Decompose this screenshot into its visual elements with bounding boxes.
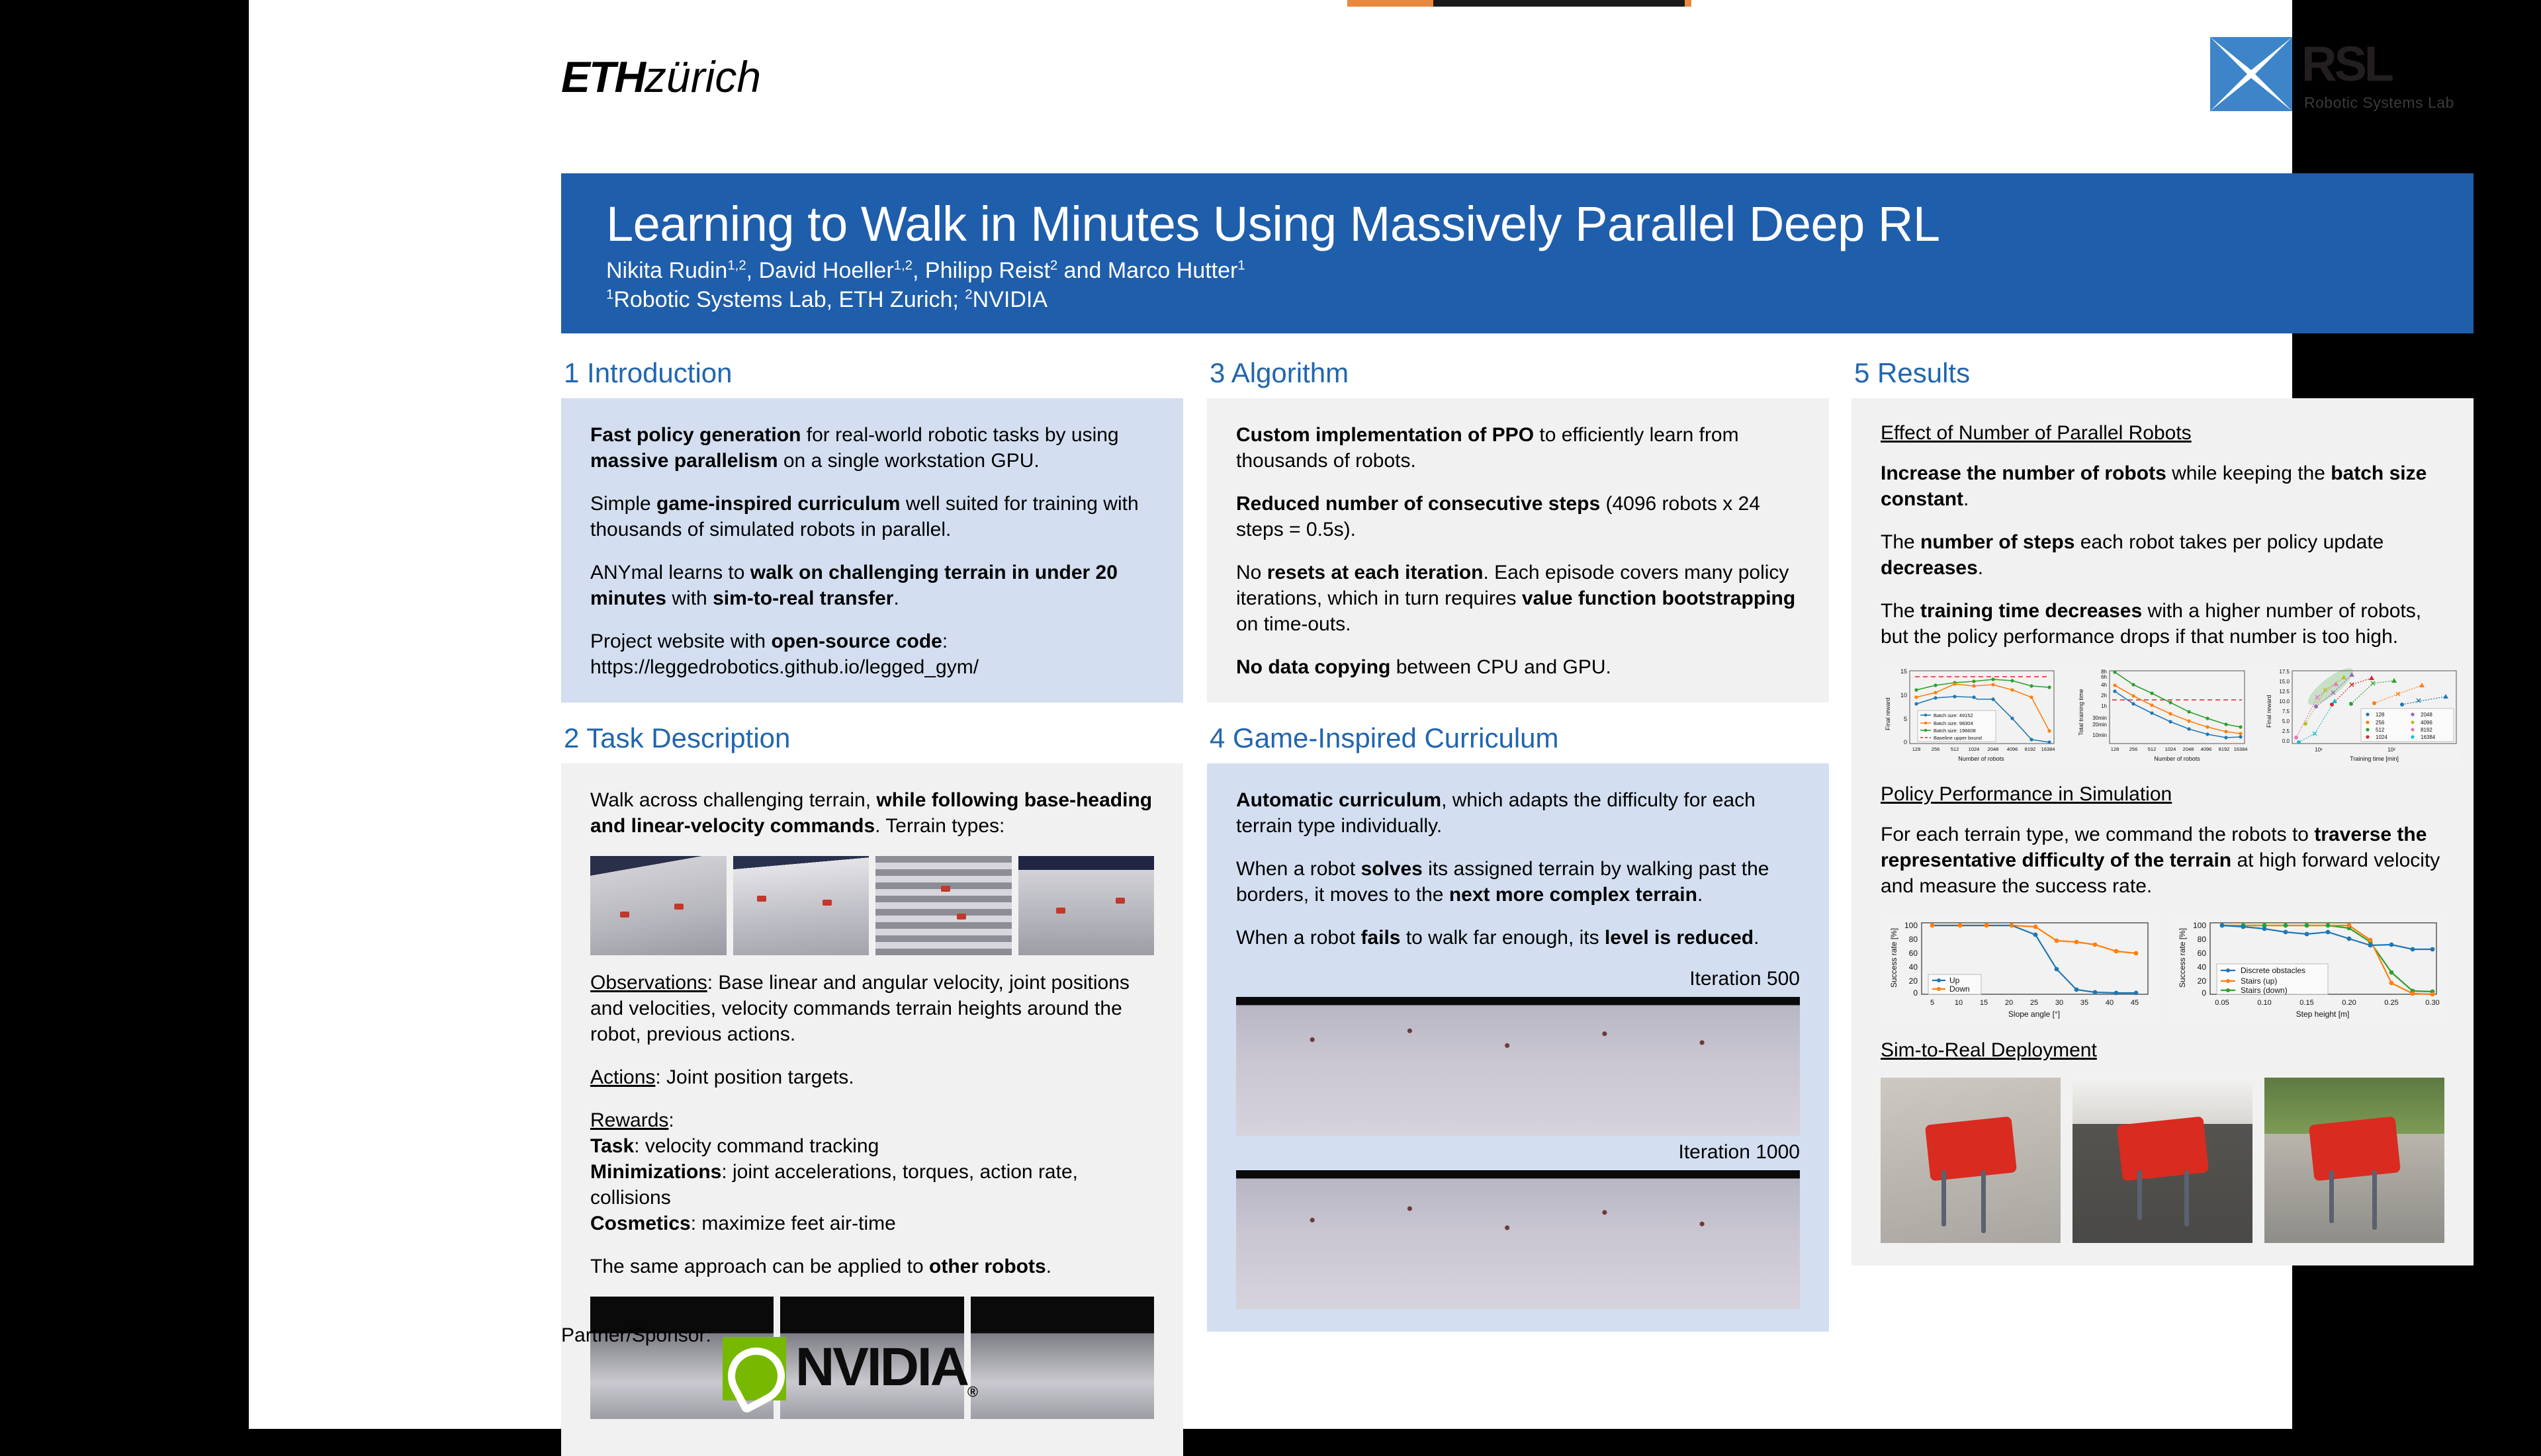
column-left: 1 Introduction Fast policy generation fo…: [561, 357, 1183, 1456]
svg-text:16384: 16384: [2041, 746, 2055, 752]
rewards-text: Rewards: Task: velocity command tracking…: [590, 1107, 1154, 1236]
svg-text:2h: 2h: [2101, 693, 2107, 699]
results-panel: Effect of Number of Parallel Robots Incr…: [1851, 398, 2474, 1265]
svg-text:10: 10: [1900, 692, 1907, 699]
svg-text:8192: 8192: [2421, 727, 2432, 733]
section-heading-curriculum: 4 Game-Inspired Curriculum: [1210, 722, 1829, 754]
column-middle: 3 Algorithm Custom implementation of PPO…: [1207, 357, 1829, 1332]
column-right: 5 Results Effect of Number of Parallel R…: [1851, 357, 2474, 1265]
poster-title: Learning to Walk in Minutes Using Massiv…: [606, 196, 1939, 252]
results-subheading-sim-to-real: Sim-to-Real Deployment: [1881, 1039, 2444, 1062]
svg-text:Success rate [%]: Success rate [%]: [1889, 928, 1898, 988]
eth-logo-mark: ETH: [561, 52, 645, 101]
intro-paragraph-1: Fast policy generation for real-world ro…: [590, 422, 1154, 474]
svg-text:25: 25: [2030, 999, 2038, 1007]
results-paragraph-2: The number of steps each robot takes per…: [1881, 529, 2444, 581]
svg-text:2048: 2048: [1988, 746, 1999, 752]
results-paragraph-1: Increase the number of robots while keep…: [1881, 460, 2444, 512]
svg-text:17.5: 17.5: [2279, 669, 2290, 675]
rsl-logo-text: RSL: [2301, 36, 2391, 92]
robot-thumb-cassie: [971, 1297, 1154, 1419]
svg-text:2.5: 2.5: [2282, 728, 2290, 734]
section-heading-task-description: 2 Task Description: [564, 722, 1183, 754]
svg-text:80: 80: [2198, 935, 2207, 944]
terrain-thumb-smooth-slope: [733, 856, 869, 955]
observations-text: Observations: Base linear and angular ve…: [590, 970, 1154, 1047]
svg-text:100: 100: [1904, 921, 1918, 930]
svg-text:128: 128: [2376, 712, 2385, 718]
algo-paragraph-3: No resets at each iteration. Each episod…: [1236, 560, 1800, 637]
task-intro-text: Walk across challenging terrain, while f…: [590, 787, 1154, 839]
svg-text:15.0: 15.0: [2279, 679, 2290, 685]
affiliation-line: 1Robotic Systems Lab, ETH Zurich; 2NVIDI…: [606, 287, 1048, 313]
svg-text:16384: 16384: [2234, 746, 2248, 752]
section-heading-results: 5 Results: [1854, 357, 2474, 389]
svg-text:Batch size: 98304: Batch size: 98304: [1934, 720, 1973, 726]
svg-text:2048: 2048: [2183, 746, 2194, 752]
svg-text:4096: 4096: [2007, 746, 2018, 752]
terrain-thumb-stairs: [875, 856, 1012, 955]
svg-text:Success rate [%]: Success rate [%]: [2178, 928, 2187, 988]
eth-zurich-logo: ETHzürich: [561, 52, 761, 102]
intro-paragraph-3: ANYmal learns to walk on challenging ter…: [590, 560, 1154, 611]
iteration-1000-label: Iteration 1000: [1236, 1141, 1800, 1164]
svg-text:Training time [min]: Training time [min]: [2350, 755, 2399, 762]
simulation-image-iteration-500: [1236, 997, 1800, 1136]
nvidia-eye-icon: [723, 1337, 786, 1400]
parallel-robots-chart-row: 15 10 5 0 Final reward: [1881, 667, 2444, 766]
svg-text:20: 20: [2005, 999, 2013, 1007]
svg-text:10: 10: [1955, 999, 1963, 1007]
svg-text:Number of robots: Number of robots: [1958, 755, 2004, 762]
curriculum-paragraph-1: Automatic curriculum, which adapts the d…: [1236, 787, 1800, 839]
nvidia-wordmark: NVIDIA®: [795, 1336, 976, 1400]
chart-final-reward-vs-robots: 15 10 5 0 Final reward: [1881, 667, 2061, 766]
svg-text:10.0: 10.0: [2279, 699, 2290, 705]
svg-text:0.10: 0.10: [2257, 999, 2271, 1007]
svg-text:4h: 4h: [2101, 682, 2107, 688]
section-heading-introduction: 1 Introduction: [564, 357, 1183, 389]
title-banner: Learning to Walk in Minutes Using Massiv…: [561, 173, 2474, 333]
svg-text:0: 0: [2202, 988, 2206, 998]
chart-success-rate-vs-step-height: 1008060 40200 Success rate [%] Discrete …: [2169, 916, 2447, 1022]
section-heading-algorithm: 3 Algorithm: [1210, 357, 1829, 389]
svg-text:60: 60: [1909, 949, 1918, 958]
curriculum-panel: Automatic curriculum, which adapts the d…: [1207, 763, 1829, 1332]
svg-text:0.05: 0.05: [2215, 999, 2229, 1007]
terrain-thumb-rough: [590, 856, 727, 955]
rewards-label: Rewards: [590, 1109, 668, 1131]
svg-text:Final reward: Final reward: [2266, 695, 2272, 728]
observations-label: Observations: [590, 972, 707, 994]
svg-text:1h: 1h: [2101, 703, 2107, 709]
svg-text:Stairs (up): Stairs (up): [2241, 976, 2277, 986]
policy-performance-chart-row: 1008060 40200 Success rate [%] Up Down 5…: [1881, 916, 2444, 1022]
intro-paragraph-4: Project website with open-source code:ht…: [590, 628, 1154, 680]
svg-text:30: 30: [2055, 999, 2063, 1007]
results-paragraph-4: For each terrain type, we command the ro…: [1881, 822, 2444, 899]
svg-text:40: 40: [2106, 999, 2114, 1007]
svg-text:10min: 10min: [2092, 732, 2107, 738]
svg-text:Down: Down: [1949, 984, 1970, 994]
svg-text:Batch size: 196608: Batch size: 196608: [1934, 728, 1976, 734]
svg-text:Baseline upper bound: Baseline upper bound: [1934, 735, 1982, 741]
svg-text:256: 256: [2376, 720, 2385, 726]
svg-text:20: 20: [2198, 976, 2207, 986]
rsl-bowtie-icon: [2207, 33, 2295, 115]
svg-text:5: 5: [1904, 716, 1907, 722]
svg-text:100: 100: [2193, 921, 2206, 930]
svg-text:10¹: 10¹: [2315, 747, 2323, 753]
svg-text:20: 20: [1909, 976, 1918, 986]
other-robots-text: The same approach can be applied to othe…: [590, 1254, 1154, 1279]
rsl-logo: RSL Robotic Systems Lab: [2207, 33, 2472, 119]
algo-paragraph-1: Custom implementation of PPO to efficien…: [1236, 422, 1800, 474]
terrain-thumbnail-row: [590, 856, 1154, 955]
deployment-photo-wooden-blocks: [2073, 1078, 2252, 1243]
svg-text:512: 512: [1951, 746, 1959, 752]
svg-text:40: 40: [1909, 963, 1918, 972]
svg-text:0.25: 0.25: [2384, 999, 2398, 1007]
svg-text:0.15: 0.15: [2299, 999, 2313, 1007]
svg-text:0.30: 0.30: [2425, 999, 2439, 1007]
svg-text:45: 45: [2131, 999, 2139, 1007]
svg-text:Step height [m]: Step height [m]: [2296, 1009, 2350, 1019]
rsl-logo-subtitle: Robotic Systems Lab: [2304, 94, 2454, 112]
svg-text:4096: 4096: [2421, 720, 2432, 726]
chart-reward-vs-training-time: 17.515.012.5 10.07.55.0 2.50.0 Final rew…: [2262, 667, 2460, 766]
svg-text:Slope angle [°]: Slope angle [°]: [2008, 1009, 2060, 1019]
iteration-500-label: Iteration 500: [1236, 968, 1800, 990]
svg-text:2048: 2048: [2421, 712, 2432, 718]
curriculum-paragraph-3: When a robot fails to walk far enough, i…: [1236, 925, 1800, 951]
poster-stage: ETHzürich RSL Robotic Systems Lab Learni…: [0, 0, 2541, 1429]
svg-text:Final reward: Final reward: [1885, 697, 1891, 730]
svg-text:10²: 10²: [2387, 747, 2395, 753]
svg-text:8192: 8192: [2219, 746, 2230, 752]
svg-text:512: 512: [2148, 746, 2157, 752]
svg-text:0: 0: [1913, 988, 1918, 998]
poster-page: ETHzürich RSL Robotic Systems Lab Learni…: [249, 0, 2292, 1429]
svg-text:8192: 8192: [2025, 746, 2036, 752]
svg-text:15: 15: [1980, 999, 1988, 1007]
svg-text:40: 40: [2198, 963, 2207, 972]
results-subheading-policy-performance: Policy Performance in Simulation: [1881, 783, 2444, 806]
deployment-photo-stairs: [1881, 1078, 2061, 1243]
svg-text:20min: 20min: [2092, 722, 2107, 728]
svg-text:128: 128: [1912, 746, 1921, 752]
deployment-photo-row: [1881, 1078, 2444, 1243]
results-paragraph-3: The training time decreases with a highe…: [1881, 598, 2444, 650]
svg-text:35: 35: [2080, 999, 2088, 1007]
svg-text:0.20: 0.20: [2342, 999, 2356, 1007]
svg-text:256: 256: [2129, 746, 2138, 752]
svg-text:60: 60: [2198, 949, 2207, 958]
top-color-strip-dark: [1433, 0, 1685, 7]
algo-paragraph-4: No data copying between CPU and GPU.: [1236, 654, 1800, 680]
svg-text:Total training time: Total training time: [2078, 689, 2084, 736]
algorithm-panel: Custom implementation of PPO to efficien…: [1207, 398, 1829, 703]
chart-training-time-vs-robots: 8h6h4h 2h1h30min 20min10min Total traini…: [2071, 667, 2251, 766]
svg-text:0.0: 0.0: [2282, 738, 2290, 744]
svg-text:0: 0: [1904, 739, 1907, 746]
nvidia-logo: NVIDIA®: [723, 1336, 976, 1400]
svg-text:Up: Up: [1949, 976, 1960, 985]
svg-text:1024: 1024: [1969, 746, 1980, 752]
sponsor-block: Partner/Sponsor:: [561, 1324, 711, 1347]
intro-paragraph-2: Simple game-inspired curriculum well sui…: [590, 491, 1154, 542]
svg-text:Number of robots: Number of robots: [2154, 755, 2200, 762]
deployment-photo-outdoors: [2264, 1078, 2444, 1243]
svg-text:15: 15: [1900, 668, 1907, 675]
svg-text:80: 80: [1909, 935, 1918, 944]
svg-text:512: 512: [2376, 727, 2385, 733]
terrain-thumb-discrete-obstacles: [1018, 856, 1155, 955]
svg-text:7.5: 7.5: [2282, 708, 2290, 714]
curriculum-paragraph-2: When a robot solves its assigned terrain…: [1236, 856, 1800, 908]
svg-text:128: 128: [2111, 746, 2119, 752]
actions-label: Actions: [590, 1066, 655, 1088]
introduction-panel: Fast policy generation for real-world ro…: [561, 398, 1183, 703]
svg-text:256: 256: [1932, 746, 1940, 752]
eth-logo-word: zürich: [645, 52, 761, 101]
simulation-image-iteration-1000: [1236, 1170, 1800, 1309]
svg-text:12.5: 12.5: [2279, 689, 2290, 695]
svg-text:16384: 16384: [2421, 734, 2436, 740]
results-subheading-parallel-robots: Effect of Number of Parallel Robots: [1881, 422, 2444, 445]
sponsor-label: Partner/Sponsor:: [561, 1324, 711, 1347]
svg-text:30min: 30min: [2092, 715, 2107, 721]
svg-text:5: 5: [1930, 999, 1934, 1007]
svg-text:4096: 4096: [2201, 746, 2212, 752]
svg-text:6h: 6h: [2101, 674, 2107, 680]
algo-paragraph-2: Reduced number of consecutive steps (409…: [1236, 491, 1800, 542]
chart-success-rate-vs-slope: 1008060 40200 Success rate [%] Up Down 5…: [1881, 916, 2159, 1022]
actions-text: Actions: Joint position targets.: [590, 1064, 1154, 1090]
svg-text:Batch size: 49152: Batch size: 49152: [1934, 712, 1973, 718]
svg-text:1024: 1024: [2376, 734, 2387, 740]
author-list: Nikita Rudin1,2, David Hoeller1,2, Phili…: [606, 258, 1245, 284]
svg-text:1024: 1024: [2165, 746, 2176, 752]
svg-text:5.0: 5.0: [2282, 718, 2290, 724]
svg-text:Stairs (down): Stairs (down): [2241, 986, 2288, 995]
svg-text:Discrete obstacles: Discrete obstacles: [2241, 966, 2305, 975]
